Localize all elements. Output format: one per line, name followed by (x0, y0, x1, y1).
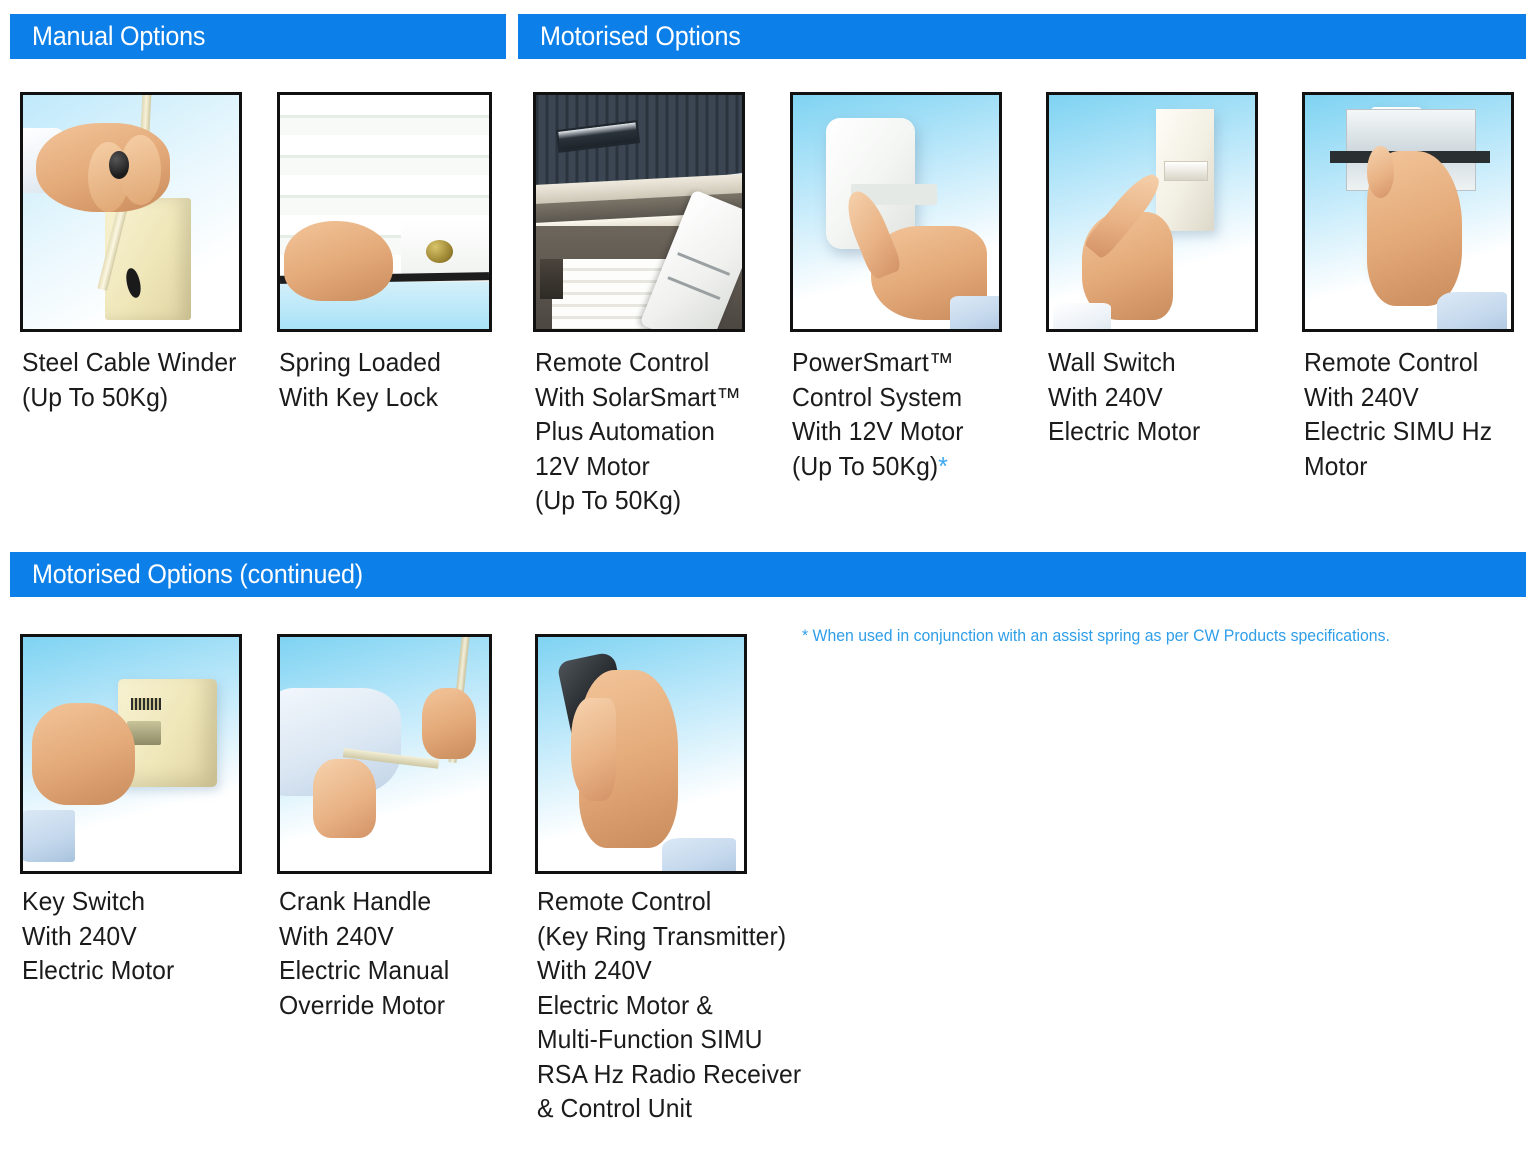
option-card-remote-solarsmart (533, 92, 745, 332)
section-header-manual-options: Manual Options (10, 14, 506, 59)
photo-remote-control-simu (1305, 95, 1511, 329)
photo-crank-handle (280, 637, 489, 871)
caption-wall-switch: Wall Switch With 240V Electric Motor (1048, 345, 1267, 449)
caption-remote-solarsmart: Remote Control With SolarSmart™ Plus Aut… (535, 345, 773, 518)
section-header-motorised-options-continued: Motorised Options (continued) (10, 552, 1526, 597)
thumbnail-remote-control-simu (1302, 92, 1514, 332)
section-title-motorised: Motorised Options (540, 23, 741, 50)
photo-wall-switch (1049, 95, 1255, 329)
section-title-motorised-continued: Motorised Options (continued) (32, 561, 363, 588)
caption-spring-loaded: Spring Loaded With Key Lock (279, 345, 498, 414)
option-card-steel-cable-winder (20, 92, 242, 332)
caption-steel-cable-winder: Steel Cable Winder (Up To 50Kg) (22, 345, 260, 414)
caption-powersmart: PowerSmart™ Control System With 12V Moto… (792, 345, 1020, 483)
photo-powersmart-control-system (793, 95, 999, 329)
caption-key-switch: Key Switch With 240V Electric Motor (22, 884, 241, 988)
option-card-remote-simu (1302, 92, 1514, 332)
photo-remote-control-solarsmart (536, 95, 742, 329)
section-title-manual: Manual Options (32, 23, 205, 50)
thumbnail-wall-switch (1046, 92, 1258, 332)
option-card-spring-loaded (277, 92, 492, 332)
thumbnail-remote-control-solarsmart (533, 92, 745, 332)
thumbnail-steel-cable-winder (20, 92, 242, 332)
thumbnail-remote-control-key-ring (535, 634, 747, 874)
thumbnail-crank-handle (277, 634, 492, 874)
thumbnail-key-switch (20, 634, 242, 874)
option-card-crank-handle (277, 634, 492, 874)
photo-key-switch (23, 637, 239, 871)
photo-remote-control-key-ring (538, 637, 744, 871)
section-header-motorised-options: Motorised Options (518, 14, 1526, 59)
product-options-sheet: Manual Options Motorised Options Steel C… (0, 0, 1536, 1150)
caption-remote-simu: Remote Control With 240V Electric SIMU H… (1304, 345, 1523, 483)
thumbnail-spring-loaded-key-lock (277, 92, 492, 332)
option-card-remote-key-ring (535, 634, 747, 874)
option-card-wall-switch (1046, 92, 1258, 332)
photo-spring-loaded-key-lock (280, 95, 489, 329)
caption-remote-key-ring: Remote Control (Key Ring Transmitter) Wi… (537, 884, 822, 1126)
option-card-powersmart (790, 92, 1002, 332)
footnote-asterisk-marker: * (938, 451, 948, 481)
footnote-text: * When used in conjunction with an assis… (802, 626, 1390, 646)
photo-steel-cable-winder (23, 95, 239, 329)
option-card-key-switch (20, 634, 242, 874)
thumbnail-powersmart-control-system (790, 92, 1002, 332)
caption-crank-handle: Crank Handle With 240V Electric Manual O… (279, 884, 507, 1022)
